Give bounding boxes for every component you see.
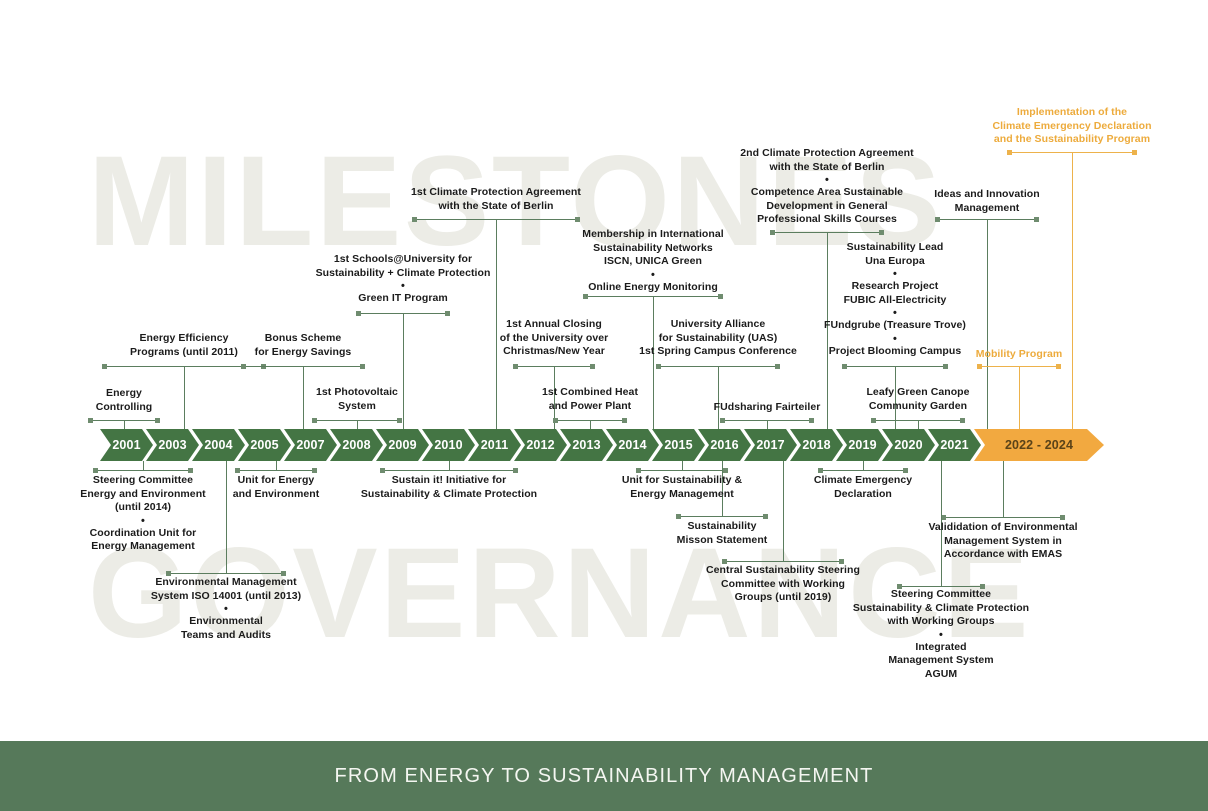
connector-stem-leafy-green-canope-community-garden <box>918 420 919 429</box>
milestone-ideas-and-innovation-management[interactable]: Ideas and Innovation Management <box>897 188 1077 215</box>
footer-banner: FROM ENERGY TO SUSTAINABILITY MANAGEMENT <box>0 741 1208 811</box>
timeline-year-2009[interactable]: 2009 <box>376 429 429 461</box>
timeline-year-2008[interactable]: 2008 <box>330 429 383 461</box>
milestone-text-line: 1st Photovoltaic System <box>287 386 427 413</box>
connector-stem-unit-for-energy-and-environment <box>276 461 277 470</box>
milestone-membership-sustainability-networks[interactable]: Membership in International Sustainabili… <box>538 228 768 294</box>
connector-cap-sustain-it-initiative <box>380 470 518 471</box>
connector-stem-energy-controlling <box>124 420 125 429</box>
connector-stem-validation-environmental-management-emas <box>1003 461 1004 517</box>
bullet-separator-icon: • <box>816 629 1066 641</box>
milestone-sustainability-lead-una-europa[interactable]: Sustainability Lead Una Europa•Research … <box>785 241 1005 358</box>
milestone-text-line: Sustain it! Initiative for Sustainabilit… <box>324 474 574 501</box>
timeline-year-2005[interactable]: 2005 <box>238 429 291 461</box>
milestone-text-line: FUdsharing Fairteiler <box>682 401 852 415</box>
milestone-text-line: 1st Climate Protection Agreement with th… <box>366 186 626 213</box>
milestone-text-line: 1st Combined Heat and Power Plant <box>510 386 670 413</box>
milestone-text-line: Environmental Teams and Audits <box>116 615 336 642</box>
connector-stem-mobility-program <box>1019 366 1020 429</box>
milestone-leafy-green-canope-community-garden[interactable]: Leafy Green Canope Community Garden <box>833 386 1003 413</box>
timeline-year-20222024[interactable]: 2022 - 2024 <box>974 429 1104 461</box>
connector-stem-energy-efficiency-programs <box>184 366 185 429</box>
milestone-fudsharing-fairteiler[interactable]: FUdsharing Fairteiler <box>682 401 852 415</box>
timeline-year-2019[interactable]: 2019 <box>836 429 889 461</box>
timeline-year-2013[interactable]: 2013 <box>560 429 613 461</box>
timeline-year-2011[interactable]: 2011 <box>468 429 521 461</box>
bullet-separator-icon: • <box>273 280 533 292</box>
milestone-energy-controlling[interactable]: Energy Controlling <box>64 387 184 414</box>
milestone-text-line: 2nd Climate Protection Agreement with th… <box>692 147 962 174</box>
milestone-text-line: Green IT Program <box>273 292 533 306</box>
bullet-separator-icon: • <box>116 603 336 615</box>
milestone-text-line: Coordination Unit for Energy Management <box>48 527 238 554</box>
timeline-year-2015[interactable]: 2015 <box>652 429 705 461</box>
connector-cap-steering-committee-sustainability-climate <box>897 586 985 587</box>
milestone-text-line: FUndgrube (Treasure Trove) <box>785 319 1005 333</box>
timeline-year-2010[interactable]: 2010 <box>422 429 475 461</box>
milestone-text-line: Climate Emergency Declaration <box>778 474 948 501</box>
connector-cap-steering-committee-energy-environment <box>93 470 193 471</box>
timeline-year-2020[interactable]: 2020 <box>882 429 935 461</box>
connector-cap-validation-environmental-management-emas <box>941 517 1065 518</box>
timeline-year-2001[interactable]: 2001 <box>100 429 153 461</box>
connector-stem-university-alliance-sustainability <box>718 366 719 429</box>
milestone-text-line: Valididation of Environmental Management… <box>888 521 1118 562</box>
milestone-climate-emergency-declaration[interactable]: Climate Emergency Declaration <box>778 474 948 501</box>
timeline-bar: 2001200320042005200720082009201020112012… <box>100 429 1105 461</box>
bullet-separator-icon: • <box>692 174 962 186</box>
timeline-year-2007[interactable]: 2007 <box>284 429 337 461</box>
milestone-text-line: Membership in International Sustainabili… <box>538 228 768 269</box>
milestone-sustain-it-initiative[interactable]: Sustain it! Initiative for Sustainabilit… <box>324 474 574 501</box>
milestone-text-line: Environmental Management System ISO 1400… <box>116 576 336 603</box>
timeline-year-2003[interactable]: 2003 <box>146 429 199 461</box>
milestone-bonus-scheme-energy-savings[interactable]: Bonus Scheme for Energy Savings <box>223 332 383 359</box>
bullet-separator-icon: • <box>785 333 1005 345</box>
connector-stem-first-combined-heat-power-plant <box>590 420 591 429</box>
bullet-separator-icon: • <box>48 515 238 527</box>
connector-cap-unit-sustainability-energy-management <box>636 470 728 471</box>
milestone-steering-committee-sustainability-climate[interactable]: Steering Committee Sustainability & Clim… <box>816 588 1066 681</box>
connector-stem-first-photovoltaic-system <box>357 420 358 429</box>
connector-cap-central-sustainability-steering-committee <box>722 561 844 562</box>
footer-title: FROM ENERGY TO SUSTAINABILITY MANAGEMENT <box>335 765 874 788</box>
milestone-text-line: Implementation of the Climate Emergency … <box>947 106 1197 147</box>
milestone-implementation-climate-emergency-declaration[interactable]: Implementation of the Climate Emergency … <box>947 106 1197 147</box>
connector-stem-climate-emergency-declaration <box>863 461 864 470</box>
milestone-first-combined-heat-power-plant[interactable]: 1st Combined Heat and Power Plant <box>510 386 670 413</box>
connector-cap-unit-for-energy-and-environment <box>235 470 317 471</box>
timeline-year-2016[interactable]: 2016 <box>698 429 751 461</box>
timeline-year-2017[interactable]: 2017 <box>744 429 797 461</box>
milestone-first-climate-protection-agreement[interactable]: 1st Climate Protection Agreement with th… <box>366 186 626 213</box>
timeline-year-2021[interactable]: 2021 <box>928 429 981 461</box>
milestone-text-line: Sustainability Misson Statement <box>637 520 807 547</box>
bullet-separator-icon: • <box>785 307 1005 319</box>
connector-stem-steering-committee-energy-environment <box>143 461 144 470</box>
milestone-first-photovoltaic-system[interactable]: 1st Photovoltaic System <box>287 386 427 413</box>
milestone-text-line: Sustainability Lead Una Europa <box>785 241 1005 268</box>
milestone-schools-at-university-green-it[interactable]: 1st Schools@University for Sustainabilit… <box>273 253 533 306</box>
milestone-unit-sustainability-energy-management[interactable]: Unit for Sustainability & Energy Managem… <box>587 474 777 501</box>
connector-stem-fudsharing-fairteiler <box>767 420 768 429</box>
timeline-year-2018[interactable]: 2018 <box>790 429 843 461</box>
infographic-canvas: MILESTONES GOVERNANCE Energy Controlling… <box>0 0 1208 811</box>
connector-cap-environmental-management-system-iso <box>166 573 286 574</box>
milestone-text-line: Ideas and Innovation Management <box>897 188 1077 215</box>
timeline-year-2004[interactable]: 2004 <box>192 429 245 461</box>
timeline-year-2012[interactable]: 2012 <box>514 429 567 461</box>
connector-cap-sustainability-misson-statement <box>676 516 768 517</box>
connector-stem-unit-sustainability-energy-management <box>682 461 683 470</box>
milestone-text-line: Leafy Green Canope Community Garden <box>833 386 1003 413</box>
bullet-separator-icon: • <box>785 268 1005 280</box>
timeline-year-2014[interactable]: 2014 <box>606 429 659 461</box>
milestone-sustainability-misson-statement[interactable]: Sustainability Misson Statement <box>637 520 807 547</box>
connector-stem-sustain-it-initiative <box>449 461 450 470</box>
milestone-environmental-management-system-iso[interactable]: Environmental Management System ISO 1400… <box>116 576 336 642</box>
milestone-text-line: 1st Schools@University for Sustainabilit… <box>273 253 533 280</box>
milestone-text-line: Integrated Management System AGUM <box>816 641 1066 682</box>
milestone-text-line: Research Project FUBIC All-Electricity <box>785 280 1005 307</box>
milestone-text-line: Energy Controlling <box>64 387 184 414</box>
milestone-text-line: Bonus Scheme for Energy Savings <box>223 332 383 359</box>
connector-cap-climate-emergency-declaration <box>818 470 908 471</box>
bullet-separator-icon: • <box>538 269 768 281</box>
milestone-validation-environmental-management-emas[interactable]: Valididation of Environmental Management… <box>888 521 1118 562</box>
milestone-text-line: Steering Committee Sustainability & Clim… <box>816 588 1066 629</box>
milestone-mobility-program[interactable]: Mobility Program <box>944 348 1094 362</box>
milestone-text-line: Online Energy Monitoring <box>538 281 768 295</box>
milestone-text-line: Unit for Sustainability & Energy Managem… <box>587 474 777 501</box>
milestone-text-line: Mobility Program <box>944 348 1094 362</box>
